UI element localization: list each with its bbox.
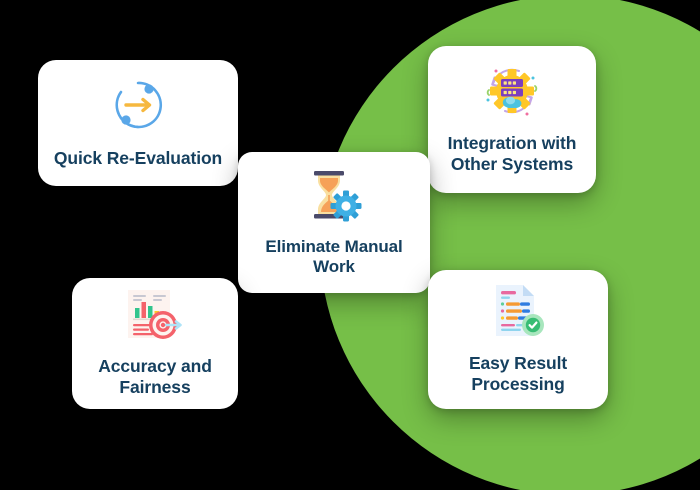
feature-card-label: Quick Re-Evaluation [54,148,222,169]
refresh-arrow-loop-icon [108,75,168,140]
infographic-canvas: Quick Re-Evaluation [0,0,700,490]
gear-server-cloud-icon [479,62,545,125]
hourglass-gear-icon [301,166,367,229]
feature-card-integration[interactable]: Integration with Other Systems [428,46,596,193]
feature-card-label: Integration with Other Systems [448,133,577,175]
feature-card-eliminate-manual-work[interactable]: Eliminate Manual Work [238,152,430,293]
feature-card-quick-re-evaluation[interactable]: Quick Re-Evaluation [38,60,238,186]
document-check-icon [486,282,550,345]
feature-card-label: Easy Result Processing [469,353,567,395]
report-target-icon [122,287,188,348]
feature-card-label: Accuracy and Fairness [98,356,212,398]
feature-card-label: Eliminate Manual Work [265,237,402,278]
feature-card-accuracy-fairness[interactable]: Accuracy and Fairness [72,278,238,409]
feature-card-easy-result-processing[interactable]: Easy Result Processing [428,270,608,409]
